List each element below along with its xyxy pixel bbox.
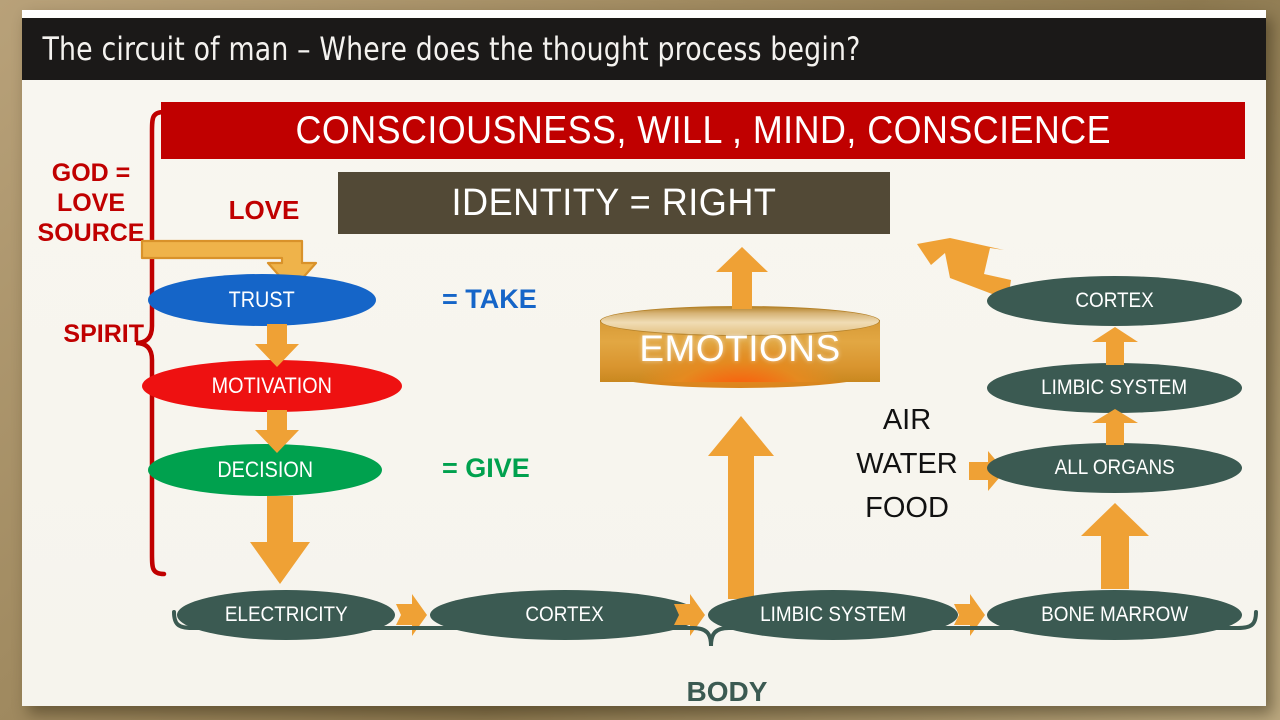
body-brace-icon: [170, 610, 1260, 672]
input-food-label: FOOD: [842, 486, 972, 530]
banner-consciousness: CONSCIOUSNESS, WILL , MIND, CONSCIENCE: [161, 102, 1245, 159]
input-water-label: WATER: [842, 442, 972, 486]
body-label: BODY: [672, 676, 782, 708]
arrow-down-decision-body-icon: [248, 496, 312, 586]
node-motivation-label: MOTIVATION: [212, 373, 332, 399]
banner-consciousness-label: CONSCIOUSNESS, WILL , MIND, CONSCIENCE: [295, 109, 1111, 153]
arrow-up-limbic-cortex-icon: [1090, 326, 1140, 366]
node-trust-label: TRUST: [229, 287, 295, 313]
input-air-label: AIR: [842, 398, 972, 442]
arrow-up-organs-limbic-icon: [1090, 408, 1140, 446]
inputs-label-group: AIR WATER FOOD: [842, 398, 972, 530]
arrow-up-limbic-emotions-icon: [706, 414, 776, 600]
emotions-label: EMOTIONS: [600, 328, 880, 370]
page-title: The circuit of man – Where does the thou…: [22, 30, 861, 68]
node-limbic-right: LIMBIC SYSTEM: [987, 363, 1242, 413]
node-decision-label: DECISION: [217, 457, 313, 483]
bar-identity: IDENTITY = RIGHT: [338, 172, 890, 234]
node-all-organs-label: ALL ORGANS: [1054, 456, 1174, 480]
slide: The circuit of man – Where does the thou…: [22, 10, 1266, 706]
emotions-cylinder: EMOTIONS: [600, 306, 880, 396]
arrow-down-motivation-decision-icon: [254, 410, 300, 454]
node-all-organs: ALL ORGANS: [987, 443, 1242, 493]
take-label: = TAKE: [442, 284, 537, 315]
arrow-up-marrow-organs-icon: [1078, 502, 1152, 590]
spirit-brace-icon: [122, 108, 168, 578]
node-trust: TRUST: [148, 274, 376, 326]
node-cortex-right: CORTEX: [987, 276, 1242, 326]
node-limbic-right-label: LIMBIC SYSTEM: [1042, 376, 1188, 400]
bar-identity-label: IDENTITY = RIGHT: [452, 182, 777, 225]
love-label: LOVE: [194, 195, 334, 226]
node-cortex-right-label: CORTEX: [1075, 289, 1153, 313]
give-label: = GIVE: [442, 453, 530, 484]
arrow-up-emotions-identity-icon: [714, 246, 770, 310]
arrow-down-trust-motivation-icon: [254, 324, 300, 368]
slide-title-bar: The circuit of man – Where does the thou…: [22, 18, 1266, 80]
